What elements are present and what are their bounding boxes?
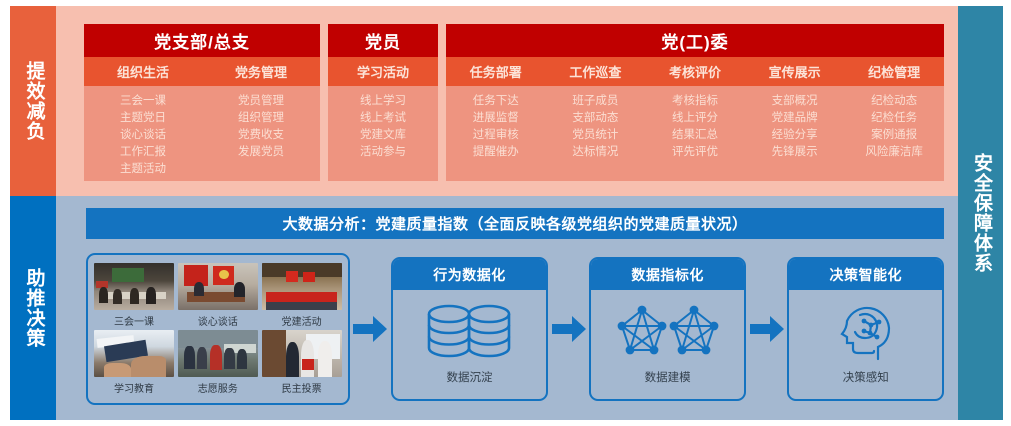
gallery-item[interactable]: 谈心谈话 [178, 263, 258, 328]
network-graph-icon [616, 301, 720, 363]
arrow-right-icon [552, 316, 586, 342]
subcolumn-items: 党员管理 组织管理 党费收支 发展党员 [202, 86, 320, 181]
process-box-data-index: 数据指标化 [589, 257, 746, 401]
gallery-item[interactable]: 三会一课 [94, 263, 174, 328]
right-rail: 安全保障体系 [958, 6, 1003, 420]
subcolumn-header[interactable]: 党务管理 [202, 57, 320, 86]
gallery-caption: 学习教育 [114, 380, 154, 395]
subcolumn-publicity: 宣传展示 支部概况 党建品牌 经验分享 先锋展示 [745, 57, 845, 181]
photo-outdoor-banner [262, 263, 342, 310]
gallery-row: 学习教育 志愿服务 民主投票 [94, 330, 342, 395]
gallery-caption: 三会一课 [114, 313, 154, 328]
subcolumn-items: 考核指标 线上评分 结果汇总 评先评优 [645, 86, 745, 181]
process-caption: 决策感知 [843, 369, 889, 385]
infographic-root: 提效减负 助推决策 安全保障体系 党支部/总支 组织生活 三会一课 主题党日 谈 [0, 0, 1011, 426]
subcolumn-assessment: 考核评价 考核指标 线上评分 结果汇总 评先评优 [645, 57, 745, 181]
left-rail-bottom-label: 助推决策 [10, 196, 56, 420]
photo-volunteers [178, 330, 258, 377]
gallery-caption: 志愿服务 [198, 380, 238, 395]
activity-photo-gallery: 三会一课 谈心谈话 党建活动 [86, 253, 350, 405]
leaf-item[interactable]: 组织管理 [238, 110, 284, 126]
ai-head-icon [838, 301, 894, 363]
card-columns: 学习活动 线上学习 线上考试 党建文库 活动参与 [328, 57, 438, 181]
leaf-item[interactable]: 党员统计 [572, 127, 618, 143]
card-title: 党员 [328, 24, 438, 57]
leaf-item[interactable]: 班子成员 [572, 93, 618, 109]
big-data-banner: 大数据分析：党建质量指数（全面反映各级党组织的党建质量状况） [86, 208, 944, 239]
leaf-item[interactable]: 达标情况 [572, 144, 618, 160]
leaf-item[interactable]: 党建品牌 [772, 110, 818, 126]
left-rail-top-label: 提效减负 [10, 6, 56, 196]
flow-arrow-1 [350, 316, 392, 342]
gallery-row: 三会一课 谈心谈话 党建活动 [94, 263, 342, 328]
top-panel: 党支部/总支 组织生活 三会一课 主题党日 谈心谈话 工作汇报 主题活动 党 [56, 6, 958, 196]
leaf-item[interactable]: 考核指标 [672, 93, 718, 109]
subcolumn-party-affairs: 党务管理 党员管理 组织管理 党费收支 发展党员 [202, 57, 320, 181]
process-box-smart-decision: 决策智能化 [787, 257, 944, 401]
left-rail: 提效减负 助推决策 [10, 6, 56, 420]
subcolumn-header[interactable]: 学习活动 [328, 57, 438, 86]
gallery-caption: 谈心谈话 [198, 313, 238, 328]
arrow-right-icon [353, 316, 387, 342]
gallery-caption: 党建活动 [282, 313, 322, 328]
left-rail-top-section: 提效减负 [10, 6, 56, 196]
gallery-caption: 民主投票 [282, 380, 322, 395]
leaf-item[interactable]: 主题党日 [120, 110, 166, 126]
leaf-item[interactable]: 支部概况 [772, 93, 818, 109]
photo-meeting-room [94, 263, 174, 310]
leaf-item[interactable]: 发展党员 [238, 144, 284, 160]
leaf-item[interactable]: 谈心谈话 [120, 127, 166, 143]
process-body: 决策感知 [789, 290, 942, 399]
flow-arrow-2 [548, 316, 590, 342]
photo-ballot-box [262, 330, 342, 377]
leaf-item[interactable]: 三会一课 [120, 93, 166, 109]
leaf-item[interactable]: 线上考试 [360, 110, 406, 126]
leaf-item[interactable]: 支部动态 [572, 110, 618, 126]
subcolumn-work-inspection: 工作巡查 班子成员 支部动态 党员统计 达标情况 [546, 57, 646, 181]
process-body: 数据建模 [591, 290, 744, 399]
subcolumn-items: 班子成员 支部动态 党员统计 达标情况 [546, 86, 646, 181]
gallery-item[interactable]: 学习教育 [94, 330, 174, 395]
leaf-item[interactable]: 风险廉洁库 [865, 144, 923, 160]
subcolumn-task-deploy: 任务部署 任务下达 进展监督 过程审核 提醒催办 [446, 57, 546, 181]
subcolumn-header[interactable]: 工作巡查 [546, 57, 646, 86]
subcolumn-header[interactable]: 宣传展示 [745, 57, 845, 86]
process-title: 数据指标化 [591, 259, 744, 290]
data-flow-row: 三会一课 谈心谈话 党建活动 [86, 248, 944, 410]
right-rail-label: 安全保障体系 [958, 6, 1003, 420]
leaf-item[interactable]: 提醒催办 [473, 144, 519, 160]
leaf-item[interactable]: 评先评优 [672, 144, 718, 160]
subcolumn-header[interactable]: 组织生活 [84, 57, 202, 86]
subcolumn-header[interactable]: 纪检管理 [844, 57, 944, 86]
leaf-item[interactable]: 党费收支 [238, 127, 284, 143]
flow-arrow-3 [746, 316, 788, 342]
subcolumn-discipline: 纪检管理 纪检动态 纪检任务 案例通报 风险廉洁库 [844, 57, 944, 181]
leaf-item[interactable]: 过程审核 [473, 127, 519, 143]
process-body: 数据沉淀 [393, 290, 546, 399]
org-cards-container: 党支部/总支 组织生活 三会一课 主题党日 谈心谈话 工作汇报 主题活动 党 [84, 24, 944, 181]
process-caption: 数据沉淀 [446, 369, 492, 385]
subcolumn-org-life: 组织生活 三会一课 主题党日 谈心谈话 工作汇报 主题活动 [84, 57, 202, 181]
subcolumn-items: 纪检动态 纪检任务 案例通报 风险廉洁库 [844, 86, 944, 181]
left-rail-bottom-section: 助推决策 [10, 196, 56, 420]
leaf-item[interactable]: 经验分享 [772, 127, 818, 143]
leaf-item[interactable]: 党员管理 [238, 93, 284, 109]
org-card-member: 党员 学习活动 线上学习 线上考试 党建文库 活动参与 [328, 24, 438, 181]
org-card-committee: 党(工)委 任务部署 任务下达 进展监督 过程审核 提醒催办 工作巡查 [446, 24, 944, 181]
subcolumn-items: 三会一课 主题党日 谈心谈话 工作汇报 主题活动 [84, 86, 202, 181]
database-icon [425, 301, 513, 363]
leaf-item[interactable]: 纪检动态 [871, 93, 917, 109]
leaf-item[interactable]: 活动参与 [360, 144, 406, 160]
card-columns: 组织生活 三会一课 主题党日 谈心谈话 工作汇报 主题活动 党务管理 党员管理 [84, 57, 320, 181]
gallery-item[interactable]: 志愿服务 [178, 330, 258, 395]
subcolumn-study-activity: 学习活动 线上学习 线上考试 党建文库 活动参与 [328, 57, 438, 181]
subcolumn-header[interactable]: 任务部署 [446, 57, 546, 86]
gallery-item[interactable]: 党建活动 [262, 263, 342, 328]
leaf-item[interactable]: 党建文库 [360, 127, 406, 143]
leaf-item[interactable]: 工作汇报 [120, 144, 166, 160]
gallery-item[interactable]: 民主投票 [262, 330, 342, 395]
process-box-behavior-data: 行为数据化 [391, 257, 548, 401]
card-title: 党(工)委 [446, 24, 944, 57]
leaf-item[interactable]: 线上评分 [672, 110, 718, 126]
card-title: 党支部/总支 [84, 24, 320, 57]
subcolumn-header[interactable]: 考核评价 [645, 57, 745, 86]
card-columns: 任务部署 任务下达 进展监督 过程审核 提醒催办 工作巡查 班子成员 支部动态 [446, 57, 944, 181]
subcolumn-items: 任务下达 进展监督 过程审核 提醒催办 [446, 86, 546, 181]
arrow-right-icon [750, 316, 784, 342]
org-card-branch: 党支部/总支 组织生活 三会一课 主题党日 谈心谈话 工作汇报 主题活动 党 [84, 24, 320, 181]
leaf-item[interactable]: 进展监督 [473, 110, 519, 126]
process-caption: 数据建模 [645, 369, 691, 385]
bottom-panel: 大数据分析：党建质量指数（全面反映各级党组织的党建质量状况） 三会一课 [56, 196, 958, 420]
subcolumn-items: 支部概况 党建品牌 经验分享 先锋展示 [745, 86, 845, 181]
photo-flag-talk [178, 263, 258, 310]
leaf-item[interactable]: 先锋展示 [772, 144, 818, 160]
process-title: 决策智能化 [789, 259, 942, 290]
leaf-item[interactable]: 主题活动 [120, 161, 166, 177]
subcolumn-items: 线上学习 线上考试 党建文库 活动参与 [328, 86, 438, 181]
leaf-item[interactable]: 线上学习 [360, 93, 406, 109]
leaf-item[interactable]: 任务下达 [473, 93, 519, 109]
leaf-item[interactable]: 案例通报 [871, 127, 917, 143]
process-title: 行为数据化 [393, 259, 546, 290]
leaf-item[interactable]: 结果汇总 [672, 127, 718, 143]
leaf-item[interactable]: 纪检任务 [871, 110, 917, 126]
photo-tablet-study [94, 330, 174, 377]
